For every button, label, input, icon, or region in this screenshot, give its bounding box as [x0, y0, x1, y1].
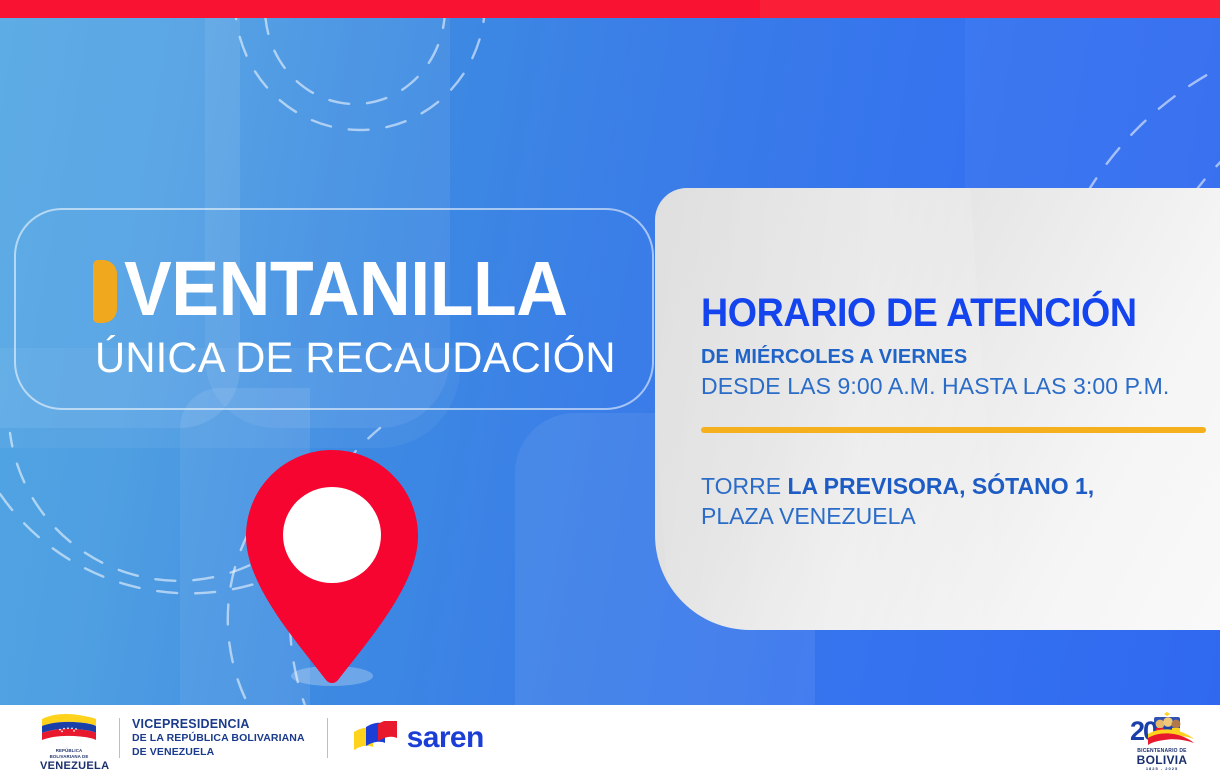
- footer-bar: REPÚBLICA BOLIVARIANA DE VENEZUELA VICEP…: [0, 705, 1220, 770]
- schedule-hours: DESDE LAS 9:00 A.M. HASTA LAS 3:00 P.M.: [701, 372, 1220, 400]
- address-line-2: PLAZA VENEZUELA: [701, 501, 1220, 531]
- top-red-bar-left-segment: [0, 0, 760, 18]
- bg-shape-left-panel: [0, 428, 180, 705]
- footer-divider-2: [327, 718, 328, 758]
- yellow-divider: [701, 427, 1206, 433]
- flag-country: VENEZUELA: [40, 760, 98, 770]
- saren-logo: saren: [352, 721, 484, 755]
- address-venue: LA PREVISORA, SÓTANO 1,: [787, 473, 1094, 499]
- blue-canvas: VENTANILLA ÚNICA DE RECAUDACIÓN HORARIO …: [0, 18, 1220, 705]
- footer-divider-1: [119, 718, 120, 758]
- bicentenario-line-3: 1825 - 2025: [1124, 766, 1200, 770]
- address-prefix: TORRE: [701, 473, 787, 499]
- vicepresidencia-line-2: DE LA REPÚBLICA BOLIVARIANA: [132, 733, 305, 744]
- vicepresidencia-block: VICEPRESIDENCIA DE LA REPÚBLICA BOLIVARI…: [132, 718, 305, 758]
- page-subtitle: ÚNICA DE RECAUDACIÓN: [95, 334, 616, 382]
- address-line-1: TORRE LA PREVISORA, SÓTANO 1,: [701, 471, 1220, 501]
- bicentenario-line-2: BOLIVIA: [1124, 754, 1200, 766]
- footer-right-group: 20 BICENTENARIO DE BOLIVIA: [1124, 705, 1200, 770]
- info-panel-content: HORARIO DE ATENCIÓN DE MIÉRCOLES A VIERN…: [701, 292, 1220, 531]
- schedule-heading: HORARIO DE ATENCIÓN: [701, 292, 1190, 334]
- footer-left-group: REPÚBLICA BOLIVARIANA DE VENEZUELA VICEP…: [40, 705, 484, 770]
- schedule-days: DE MIÉRCOLES A VIERNES: [701, 344, 1220, 370]
- flag-caption: REPÚBLICA BOLIVARIANA DE: [40, 748, 98, 760]
- promo-banner: VENTANILLA ÚNICA DE RECAUDACIÓN HORARIO …: [0, 0, 1220, 770]
- venezuela-flag-icon: REPÚBLICA BOLIVARIANA DE VENEZUELA: [40, 714, 98, 762]
- address-block: TORRE LA PREVISORA, SÓTANO 1, PLAZA VENE…: [701, 471, 1220, 531]
- bicentenario-bolivia-icon: 20 BICENTENARIO DE BOLIVIA: [1124, 712, 1200, 764]
- yellow-bar-icon: [93, 260, 117, 323]
- vicepresidencia-line-1: VICEPRESIDENCIA: [132, 718, 305, 731]
- location-pin-icon: [246, 450, 418, 686]
- vicepresidencia-line-3: DE VENEZUELA: [132, 747, 305, 758]
- page-title: VENTANILLA: [124, 251, 568, 328]
- title-block: VENTANILLA ÚNICA DE RECAUDACIÓN: [93, 251, 632, 382]
- top-red-bar: [0, 0, 1220, 18]
- saren-wordmark: saren: [407, 721, 484, 755]
- info-panel: HORARIO DE ATENCIÓN DE MIÉRCOLES A VIERN…: [655, 188, 1220, 630]
- saren-logo-icon: [352, 721, 398, 755]
